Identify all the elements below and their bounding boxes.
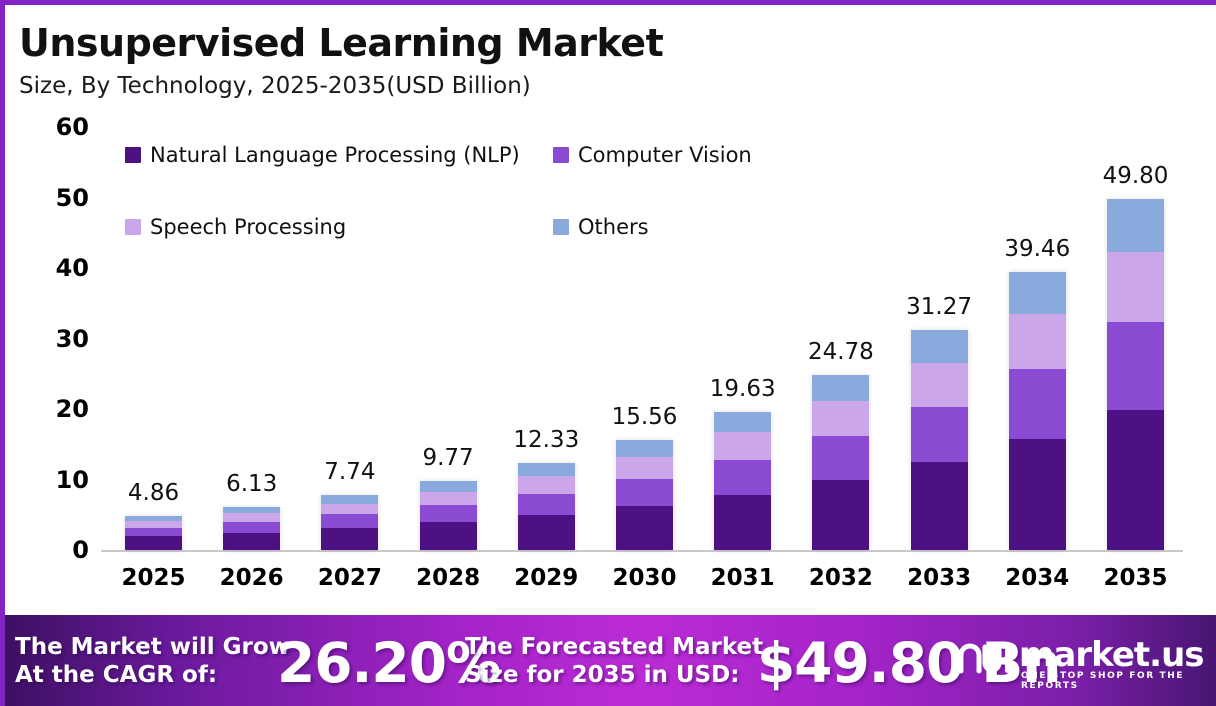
bar-value-label-2030: 15.56 bbox=[580, 404, 710, 430]
bar-column-2034[interactable] bbox=[1009, 5, 1066, 550]
bar-segment-nlp bbox=[812, 480, 869, 550]
legend-item-label: Natural Language Processing (NLP) bbox=[150, 143, 520, 167]
bar-segment-computer_vision bbox=[616, 479, 673, 506]
legend-swatch-icon bbox=[553, 147, 569, 163]
forecast-caption-line1: The Forecasted Market bbox=[465, 635, 763, 659]
chart-infographic: Unsupervised Learning Market Size, By Te… bbox=[0, 0, 1216, 706]
footer-banner: The Market will Grow At the CAGR of: 26.… bbox=[5, 615, 1216, 706]
bar-segment-nlp bbox=[125, 536, 182, 550]
chart-legend: Natural Language Processing (NLP)Compute… bbox=[125, 143, 825, 253]
bar-segment-others bbox=[812, 375, 869, 401]
bar-column-2033[interactable] bbox=[911, 5, 968, 550]
bar-value-label-2034: 39.46 bbox=[972, 236, 1102, 262]
bar-segment-speech_processing bbox=[223, 513, 280, 522]
bar-segment-computer_vision bbox=[1009, 369, 1066, 439]
chart-plot-area: 0102030405060 20252026202720282029203020… bbox=[5, 5, 1216, 615]
stacked-bar[interactable] bbox=[616, 440, 673, 550]
bar-column-2030[interactable] bbox=[616, 5, 673, 550]
bar-value-label-2033: 31.27 bbox=[874, 294, 1004, 320]
bar-segment-nlp bbox=[1009, 439, 1066, 550]
bar-value-label-2029: 12.33 bbox=[481, 427, 611, 453]
stacked-bar[interactable] bbox=[1107, 199, 1164, 550]
bar-segment-others bbox=[518, 463, 575, 476]
bar-segment-speech_processing bbox=[321, 504, 378, 515]
bar-segment-computer_vision bbox=[223, 522, 280, 533]
bar-segment-computer_vision bbox=[812, 436, 869, 480]
bar-value-label-2031: 19.63 bbox=[678, 376, 808, 402]
legend-item-computer_vision[interactable]: Computer Vision bbox=[553, 143, 752, 167]
bar-segment-nlp bbox=[223, 533, 280, 550]
stacked-bar[interactable] bbox=[223, 507, 280, 550]
bar-segment-computer_vision bbox=[125, 528, 182, 537]
stacked-bar[interactable] bbox=[321, 495, 378, 550]
bars-layer bbox=[5, 5, 1216, 550]
bar-segment-speech_processing bbox=[714, 432, 771, 460]
legend-item-label: Others bbox=[578, 215, 649, 239]
bar-segment-speech_processing bbox=[812, 401, 869, 436]
bar-segment-nlp bbox=[714, 495, 771, 550]
bar-column-2031[interactable] bbox=[714, 5, 771, 550]
legend-swatch-icon bbox=[125, 147, 141, 163]
bar-value-label-2035: 49.80 bbox=[1071, 163, 1201, 189]
bar-segment-speech_processing bbox=[1009, 314, 1066, 370]
legend-swatch-icon bbox=[125, 219, 141, 235]
cagr-caption-line1: The Market will Grow bbox=[15, 635, 290, 659]
stacked-bar[interactable] bbox=[420, 481, 477, 550]
bar-segment-others bbox=[911, 330, 968, 363]
bar-segment-nlp bbox=[321, 528, 378, 550]
bar-segment-nlp bbox=[911, 462, 968, 550]
bar-segment-speech_processing bbox=[125, 521, 182, 528]
bar-value-label-2032: 24.78 bbox=[776, 339, 906, 365]
legend-swatch-icon bbox=[553, 219, 569, 235]
market-us-logo: market.us ONE STOP SHOP FOR THE REPORTS bbox=[1019, 637, 1209, 689]
forecast-value: $49.80 Bn bbox=[757, 635, 1060, 693]
market-us-logo-mark bbox=[957, 641, 1013, 677]
bar-segment-speech_processing bbox=[1107, 252, 1164, 322]
stacked-bar[interactable] bbox=[911, 330, 968, 550]
stacked-bar[interactable] bbox=[812, 375, 869, 550]
legend-item-others[interactable]: Others bbox=[553, 215, 649, 239]
legend-item-label: Computer Vision bbox=[578, 143, 752, 167]
bar-segment-speech_processing bbox=[420, 492, 477, 506]
bar-segment-others bbox=[1009, 272, 1066, 314]
bar-column-2025[interactable] bbox=[125, 5, 182, 550]
bar-segment-others bbox=[420, 481, 477, 491]
logo-wordmark: market.us bbox=[1019, 635, 1204, 675]
bar-segment-speech_processing bbox=[616, 457, 673, 479]
stacked-bar[interactable] bbox=[1009, 272, 1066, 550]
bar-segment-nlp bbox=[616, 506, 673, 550]
bar-segment-nlp bbox=[1107, 410, 1164, 550]
bar-segment-others bbox=[321, 495, 378, 503]
bar-segment-nlp bbox=[518, 515, 575, 550]
logo-tagline: ONE STOP SHOP FOR THE REPORTS bbox=[1021, 671, 1209, 691]
bar-segment-computer_vision bbox=[714, 460, 771, 495]
bar-segment-nlp bbox=[420, 522, 477, 550]
bar-segment-computer_vision bbox=[911, 407, 968, 462]
stacked-bar[interactable] bbox=[518, 463, 575, 550]
forecast-caption-line2: Size for 2035 in USD: bbox=[465, 663, 739, 687]
bar-segment-others bbox=[616, 440, 673, 456]
bar-column-2035[interactable] bbox=[1107, 5, 1164, 550]
legend-item-label: Speech Processing bbox=[150, 215, 346, 239]
stacked-bar[interactable] bbox=[125, 516, 182, 550]
legend-item-speech_processing[interactable]: Speech Processing bbox=[125, 215, 346, 239]
x-axis-line bbox=[101, 550, 1183, 552]
bar-segment-speech_processing bbox=[911, 363, 968, 407]
cagr-caption-line2: At the CAGR of: bbox=[15, 663, 217, 687]
x-axis-label-2035: 2035 bbox=[1071, 565, 1201, 591]
bar-segment-computer_vision bbox=[321, 514, 378, 528]
bar-column-2032[interactable] bbox=[812, 5, 869, 550]
bar-column-2026[interactable] bbox=[223, 5, 280, 550]
legend-item-nlp[interactable]: Natural Language Processing (NLP) bbox=[125, 143, 520, 167]
bar-segment-speech_processing bbox=[518, 476, 575, 493]
bar-segment-others bbox=[1107, 199, 1164, 252]
bar-segment-computer_vision bbox=[420, 505, 477, 522]
bar-column-2029[interactable] bbox=[518, 5, 575, 550]
bar-segment-computer_vision bbox=[518, 494, 575, 516]
bar-segment-computer_vision bbox=[1107, 322, 1164, 410]
stacked-bar[interactable] bbox=[714, 412, 771, 550]
bar-segment-others bbox=[714, 412, 771, 433]
